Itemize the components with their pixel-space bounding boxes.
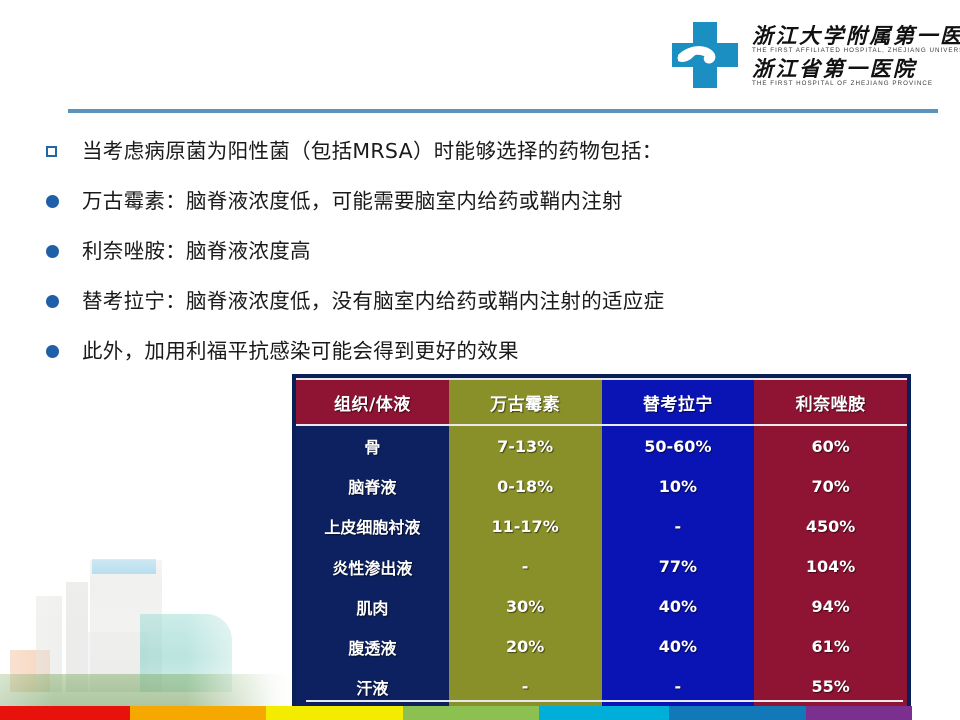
dot-bullet-icon — [44, 334, 82, 368]
cell-tissue: 上皮细胞衬液 — [296, 506, 449, 546]
hospital-name-cn-2: 浙江省第一医院 — [752, 58, 960, 79]
bullet-text-3: 替考拉宁：脑脊液浓度低，没有脑室内给药或鞘内注射的适应症 — [82, 284, 664, 318]
hospital-name-line-1: 浙江大学附属第一医院 THE FIRST AFFILIATED HOSPITAL… — [752, 25, 960, 54]
column-header-vancomycin: 万古霉素 — [449, 379, 602, 425]
hospital-cross-dove-logo-icon — [668, 18, 742, 92]
color-strip-segment-6 — [806, 706, 912, 720]
cell-linezolid: 70% — [754, 466, 907, 506]
cell-teicoplanin: 77% — [602, 546, 755, 586]
bullet-text-2: 利奈唑胺：脑脊液浓度高 — [82, 234, 311, 268]
hospital-logo: 浙江大学附属第一医院 THE FIRST AFFILIATED HOSPITAL… — [668, 14, 946, 96]
header-divider — [68, 109, 938, 113]
bullet-text-1: 万古霉素：脑脊液浓度低，可能需要脑室内给药或鞘内注射 — [82, 184, 623, 218]
cell-tissue: 腹透液 — [296, 627, 449, 667]
cell-vancomycin: 7-13% — [449, 425, 602, 466]
dot-bullet-icon — [44, 234, 82, 268]
cell-vancomycin: 0-18% — [449, 466, 602, 506]
color-strip-segment-1 — [130, 706, 266, 720]
cell-vancomycin: - — [449, 546, 602, 586]
table-row: 炎性渗出液 - 77% 104% — [296, 546, 907, 586]
footer-color-strip — [0, 706, 960, 720]
cell-teicoplanin: 40% — [602, 627, 755, 667]
table-row: 骨 7-13% 50-60% 60% — [296, 425, 907, 466]
bullet-item-2: 利奈唑胺：脑脊液浓度高 — [44, 234, 934, 284]
cell-teicoplanin: - — [602, 506, 755, 546]
cell-tissue: 炎性渗出液 — [296, 546, 449, 586]
color-strip-segment-7 — [912, 706, 960, 720]
cell-vancomycin: 30% — [449, 587, 602, 627]
bullet-item-1: 万古霉素：脑脊液浓度低，可能需要脑室内给药或鞘内注射 — [44, 184, 934, 234]
color-strip-segment-4 — [539, 706, 669, 720]
dot-bullet-icon — [44, 284, 82, 318]
color-strip-segment-2 — [266, 706, 403, 720]
color-strip-segment-3 — [403, 706, 539, 720]
square-bullet-icon — [44, 134, 82, 168]
cell-tissue: 肌肉 — [296, 587, 449, 627]
slide-canvas: 浙江大学附属第一医院 THE FIRST AFFILIATED HOSPITAL… — [0, 0, 960, 720]
color-strip-segment-0 — [0, 706, 130, 720]
column-header-teicoplanin: 替考拉宁 — [602, 379, 755, 425]
bullet-item-0: 当考虑病原菌为阳性菌（包括MRSA）时能够选择的药物包括： — [44, 134, 934, 184]
bullet-item-3: 替考拉宁：脑脊液浓度低，没有脑室内给药或鞘内注射的适应症 — [44, 284, 934, 334]
cell-tissue: 脑脊液 — [296, 466, 449, 506]
cell-teicoplanin: 40% — [602, 587, 755, 627]
hospital-name-en-2: THE FIRST HOSPITAL OF ZHEJIANG PROVINCE — [752, 81, 960, 87]
column-header-tissue: 组织/体液 — [296, 379, 449, 425]
cell-tissue: 骨 — [296, 425, 449, 466]
table-bottom-rule — [306, 700, 903, 702]
color-strip-segment-5 — [669, 706, 806, 720]
cell-vancomycin: 20% — [449, 627, 602, 667]
cell-teicoplanin: 10% — [602, 466, 755, 506]
cell-vancomycin: 11-17% — [449, 506, 602, 546]
dot-bullet-icon — [44, 184, 82, 218]
cell-linezolid: 104% — [754, 546, 907, 586]
hospital-name-line-2: 浙江省第一医院 THE FIRST HOSPITAL OF ZHEJIANG P… — [752, 58, 960, 87]
table-row: 上皮细胞衬液 11-17% - 450% — [296, 506, 907, 546]
column-header-linezolid: 利奈唑胺 — [754, 379, 907, 425]
cell-linezolid: 450% — [754, 506, 907, 546]
cell-linezolid: 94% — [754, 587, 907, 627]
bullet-text-0: 当考虑病原菌为阳性菌（包括MRSA）时能够选择的药物包括： — [82, 134, 663, 168]
cell-linezolid: 60% — [754, 425, 907, 466]
bullet-text-4: 此外，加用利福平抗感染可能会得到更好的效果 — [82, 334, 519, 368]
hospital-building-photo — [0, 528, 300, 710]
hospital-name-cn-1: 浙江大学附属第一医院 — [752, 25, 960, 46]
table-header-row: 组织/体液 万古霉素 替考拉宁 利奈唑胺 — [296, 379, 907, 425]
hospital-name-block: 浙江大学附属第一医院 THE FIRST AFFILIATED HOSPITAL… — [752, 23, 960, 86]
cell-teicoplanin: 50-60% — [602, 425, 755, 466]
cell-linezolid: 61% — [754, 627, 907, 667]
hospital-name-en-1: THE FIRST AFFILIATED HOSPITAL, ZHEJIANG … — [752, 48, 960, 54]
table-row: 脑脊液 0-18% 10% 70% — [296, 466, 907, 506]
table-row: 腹透液 20% 40% 61% — [296, 627, 907, 667]
table-row: 肌肉 30% 40% 94% — [296, 587, 907, 627]
drug-concentration-table: 组织/体液 万古霉素 替考拉宁 利奈唑胺 骨 7-13% 50-60% 60% … — [293, 375, 910, 710]
bullet-list: 当考虑病原菌为阳性菌（包括MRSA）时能够选择的药物包括： 万古霉素：脑脊液浓度… — [44, 134, 934, 384]
